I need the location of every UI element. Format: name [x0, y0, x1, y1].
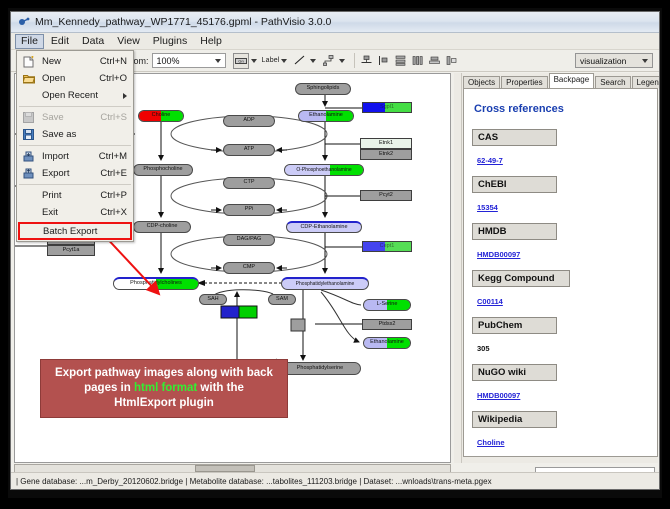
node-label: Phosphatidylethanolamine [296, 282, 355, 287]
node-label: PPi [245, 207, 254, 213]
zoom-combobox[interactable]: 100% [152, 53, 226, 68]
xref-value-kegg-compound[interactable]: C00114 [477, 297, 503, 306]
xref-value-wikipedia[interactable]: Choline [477, 438, 505, 447]
line-dropdown-icon[interactable] [310, 59, 316, 63]
node-label: CTP [244, 180, 255, 186]
xref-value-hmdb[interactable]: HMDB00097 [477, 250, 520, 259]
status-bar: | Gene database: ...m_Derby_20120602.bri… [11, 472, 659, 489]
pathvisio-icon [17, 16, 30, 29]
node-adp[interactable]: ADP [223, 115, 275, 127]
node-ethanolamine-right[interactable]: Ethanolamine [363, 337, 411, 349]
menu-item-label: Import [42, 151, 69, 162]
stack-icon[interactable] [427, 53, 443, 69]
window-title: Mm_Kennedy_pathway_WP1771_45176.gpml - P… [35, 16, 331, 28]
menu-item-import[interactable]: Import Ctrl+M [17, 148, 133, 165]
menu-item-label: Open [42, 73, 65, 84]
align-left-icon[interactable] [376, 53, 392, 69]
svg-text:Gn: Gn [238, 58, 243, 63]
save-as-icon [22, 128, 35, 141]
node-label: Ethanolamine [370, 340, 404, 346]
callout-highlight: html format [134, 382, 197, 394]
pathvisio-window: Mm_Kennedy_pathway_WP1771_45176.gpml - P… [10, 11, 660, 490]
chevron-down-icon [642, 59, 648, 63]
gene-cept1[interactable]: Cept1 [362, 241, 412, 252]
menu-item-label: Save as [42, 129, 76, 140]
gene-label: Pcyt2 [379, 193, 393, 199]
menu-item-label: Batch Export [43, 226, 97, 237]
menu-plugins[interactable]: Plugins [147, 34, 193, 49]
menu-view[interactable]: View [111, 34, 146, 49]
xref-value-nugo-wiki[interactable]: HMDB00097 [477, 391, 520, 400]
menu-item-print[interactable]: Print Ctrl+P [17, 187, 133, 204]
menu-separator [19, 184, 131, 185]
callout-line-1: Export pathway images along with back [55, 366, 273, 381]
menu-item-batch-export[interactable]: Batch Export [18, 222, 132, 240]
xref-value-cas[interactable]: 62-49-7 [477, 156, 503, 165]
menu-separator [19, 145, 131, 146]
new-page-icon [22, 55, 35, 68]
gene-etnk1[interactable]: Etnk1 [360, 138, 412, 149]
menu-data[interactable]: Data [76, 34, 110, 49]
tab-properties[interactable]: Properties [501, 76, 547, 88]
callout-line-2-pre: pages in [84, 382, 134, 394]
node-ctp[interactable]: CTP [223, 177, 275, 189]
gene-sgpl1[interactable]: Sgpl1 [362, 102, 412, 113]
menu-item-accel: Ctrl+N [100, 56, 127, 67]
node-label: SAH [207, 297, 218, 303]
node-label: ADP [243, 118, 254, 124]
tab-search[interactable]: Search [595, 76, 630, 88]
menu-help[interactable]: Help [194, 34, 228, 49]
panel-splitter[interactable] [454, 73, 462, 463]
line-tool-button[interactable] [292, 53, 308, 69]
menu-item-label: Print [42, 190, 62, 201]
menu-file[interactable]: File [15, 34, 44, 49]
menu-item-exit[interactable]: Exit Ctrl+X [17, 204, 133, 221]
menu-item-accel: Ctrl+E [100, 168, 127, 179]
side-panel-tabs: Objects Properties Backpage Search Legen… [463, 73, 658, 88]
node-label: L-Serine [377, 302, 398, 308]
tab-backpage[interactable]: Backpage [549, 73, 595, 88]
xref-value-pubchem: 305 [477, 344, 490, 353]
import-icon [22, 150, 35, 163]
node-phosphatidylserine[interactable]: Phosphatidylserine [279, 362, 361, 375]
node-label: ATP [244, 147, 254, 153]
toolbar-separator [354, 53, 355, 68]
cross-references-title: Cross references [474, 103, 649, 115]
xref-value-chebi[interactable]: 15354 [477, 203, 498, 212]
gene-label: Etnk1 [379, 141, 393, 147]
menu-edit[interactable]: Edit [45, 34, 75, 49]
distribute-horizontal-icon[interactable] [410, 53, 426, 69]
menu-separator [19, 106, 131, 107]
menu-item-accel: Ctrl+X [100, 207, 127, 218]
node-dag-pag[interactable]: DAG/PAG [223, 234, 275, 246]
callout-line-2-post: with the [197, 382, 244, 394]
node-ethanolamine-top[interactable]: Ethanolamine [298, 110, 354, 122]
gene-pcyt1a[interactable]: Pcyt1a [47, 245, 95, 256]
node-label: CDP-Ethanolamine [300, 225, 347, 231]
node-sam[interactable]: SAM [268, 294, 296, 305]
node-atp[interactable]: ATP [223, 144, 275, 156]
annotation-callout: Export pathway images along with back pa… [40, 359, 288, 418]
menu-item-save: Save Ctrl+S [17, 109, 133, 126]
node-o-phosphoethanolamine[interactable]: O-Phosphoethanolamine [284, 164, 364, 176]
chevron-right-icon [123, 93, 127, 99]
node-label: DAG/PAG [237, 237, 262, 243]
xref-head-kegg-compound: Kegg Compound [472, 270, 570, 287]
node-cdp-ethanolamine[interactable]: CDP-Ethanolamine [286, 221, 362, 233]
node-phosphatidylethanolamine[interactable]: Phosphatidylethanolamine [281, 277, 369, 290]
node-cdp-choline[interactable]: CDP-choline [133, 221, 191, 233]
node-label: CDP-choline [147, 224, 178, 230]
screenshot-root: Mm_Kennedy_pathway_WP1771_45176.gpml - P… [0, 0, 670, 509]
menu-item-open-recent[interactable]: Open Recent [17, 87, 133, 104]
node-phosphocholine[interactable]: Phosphocholine [133, 164, 193, 176]
gene-label: Sgpl1 [380, 105, 394, 111]
label-dropdown-icon[interactable] [281, 59, 287, 63]
visualization-combobox[interactable]: visualization [575, 53, 653, 68]
menu-item-open[interactable]: Open Ctrl+O [17, 70, 133, 87]
geneproduct-tool-button[interactable]: Gn [233, 53, 249, 69]
node-label: Choline [152, 113, 171, 119]
gene-etnk2[interactable]: Etnk2 [360, 149, 412, 160]
node-label: SAM [276, 297, 288, 303]
xref-head-nugo-wiki: NuGO wiki [472, 364, 557, 381]
xref-head-hmdb: HMDB [472, 223, 557, 240]
menu-item-label: New [42, 56, 61, 67]
menu-item-label: Exit [42, 207, 58, 218]
distribute-vertical-icon[interactable] [393, 53, 409, 69]
node-label: Phosphatidylserine [297, 366, 343, 372]
status-text: | Gene database: ...m_Derby_20120602.bri… [16, 477, 492, 486]
menu-item-label: Open Recent [42, 90, 98, 101]
xref-head-chebi: ChEBI [472, 176, 557, 193]
node-ppi[interactable]: PPi [223, 204, 275, 216]
title-bar: Mm_Kennedy_pathway_WP1771_45176.gpml - P… [11, 12, 659, 33]
export-icon [22, 167, 35, 180]
menu-item-label: Export [42, 168, 69, 179]
menu-bar: File Edit Data View Plugins Help [11, 33, 659, 50]
xref-head-pubchem: PubChem [472, 317, 557, 334]
gene-label: Ptdss2 [379, 322, 396, 328]
menu-item-export[interactable]: Export Ctrl+E [17, 165, 133, 182]
tab-objects[interactable]: Objects [463, 76, 500, 88]
interaction-tool-button[interactable] [321, 53, 337, 69]
save-icon [22, 111, 35, 124]
gene-label: Cept1 [380, 244, 395, 250]
node-l-serine[interactable]: L-Serine [363, 299, 411, 311]
node-label: CMP [243, 265, 255, 271]
menu-item-accel: Ctrl+S [100, 112, 127, 123]
menu-item-save-as[interactable]: Save as [17, 126, 133, 143]
interaction-dropdown-icon[interactable] [339, 59, 345, 63]
node-sah[interactable]: SAH [199, 294, 227, 305]
zoom-value: 100% [157, 56, 180, 66]
gene-ptdss2[interactable]: Ptdss2 [362, 319, 412, 330]
align-top-icon[interactable] [359, 53, 375, 69]
node-choline[interactable]: Choline [138, 110, 184, 122]
node-sphingolipids[interactable]: Sphingolipids [295, 83, 351, 95]
node-cmp[interactable]: CMP [223, 262, 275, 274]
file-menu-dropdown: New Ctrl+N Open Ctrl+O Open Recent [16, 50, 134, 242]
node-label: O-Phosphoethanolamine [296, 168, 351, 173]
xref-head-cas: CAS [472, 129, 557, 146]
node-label: Phosphatidylcholines [130, 281, 182, 287]
tab-legend[interactable]: Legend [632, 76, 660, 88]
menu-item-accel: Ctrl+P [100, 190, 127, 201]
backpage-content: Cross references CAS 62-49-7 ChEBI 15354… [463, 88, 658, 457]
menu-item-new[interactable]: New Ctrl+N [17, 53, 133, 70]
gene-pcyt2[interactable]: Pcyt2 [360, 190, 412, 201]
node-label: Sphingolipids [307, 86, 340, 92]
node-label: Ethanolamine [309, 113, 343, 119]
group-icon[interactable] [444, 53, 460, 69]
gene-label: Etnk2 [379, 152, 393, 158]
chevron-down-icon [215, 59, 221, 63]
callout-line-3: HtmlExport plugin [114, 396, 214, 411]
side-panel: Objects Properties Backpage Search Legen… [454, 73, 658, 463]
xref-head-wikipedia: Wikipedia [472, 411, 557, 428]
geneproduct-dropdown-icon[interactable] [251, 59, 257, 63]
label-tool-label[interactable]: Label [262, 57, 280, 64]
node-label: Phosphocholine [143, 167, 182, 173]
gene-label: Pcyt1a [63, 248, 80, 254]
node-phosphatidylcholines[interactable]: Phosphatidylcholines [113, 277, 199, 290]
open-folder-icon [22, 72, 35, 85]
menu-item-accel: Ctrl+O [99, 73, 127, 84]
visualization-value: visualization [580, 56, 626, 66]
menu-item-label: Save [42, 112, 64, 123]
callout-line-2: pages in html format with the [84, 381, 244, 396]
scrollbar-thumb[interactable] [195, 465, 255, 472]
menu-item-accel: Ctrl+M [99, 151, 127, 162]
